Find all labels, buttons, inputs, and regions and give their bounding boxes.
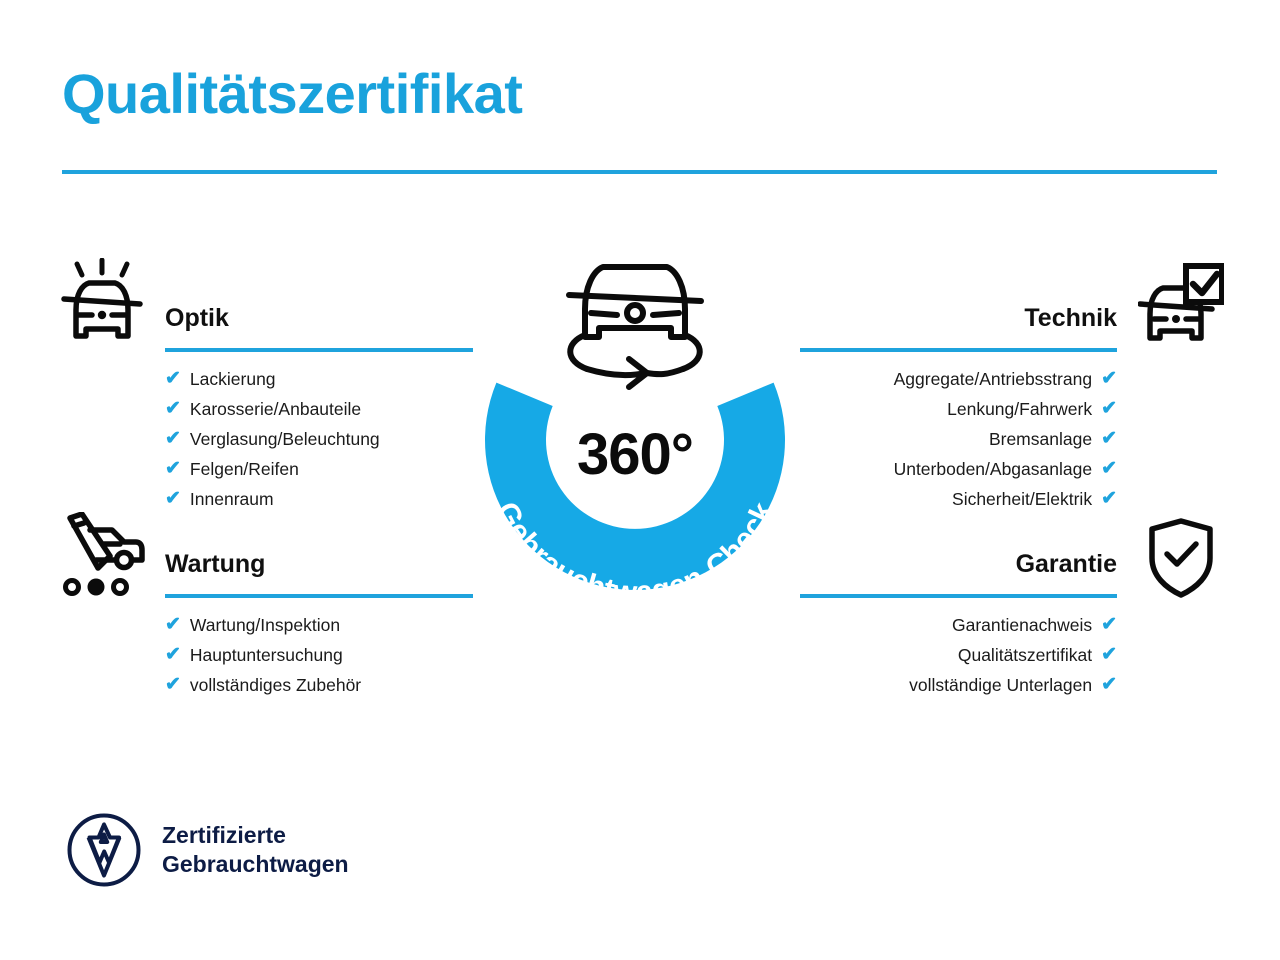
list-item: vollständige Unterlagen ✔ bbox=[800, 670, 1117, 700]
section-technik: Technik Aggregate/Antriebsstrang ✔ Lenku… bbox=[800, 300, 1117, 514]
footer-brand-lockup: Zertifizierte Gebrauchtwagen bbox=[66, 812, 349, 888]
check-icon: ✔ bbox=[165, 640, 181, 670]
section-title: Technik bbox=[800, 300, 1117, 336]
list-item: ✔ Felgen/Reifen bbox=[165, 454, 473, 484]
volkswagen-logo-icon bbox=[66, 812, 142, 888]
list-item: ✔ Karosserie/Anbauteile bbox=[165, 394, 473, 424]
list-item: Aggregate/Antriebsstrang ✔ bbox=[800, 364, 1117, 394]
check-icon: ✔ bbox=[1101, 610, 1117, 640]
section-header-optik: Optik bbox=[165, 300, 473, 352]
page-title: Qualitätszertifikat bbox=[62, 62, 522, 126]
check-icon: ✔ bbox=[165, 394, 181, 424]
list-item-label: Hauptuntersuchung bbox=[190, 640, 343, 670]
list-item: ✔ Hauptuntersuchung bbox=[165, 640, 473, 670]
check-icon: ✔ bbox=[1101, 424, 1117, 454]
list-item-label: Wartung/Inspektion bbox=[190, 610, 340, 640]
car-front-checkbox-icon bbox=[1138, 262, 1224, 348]
shield-check-icon bbox=[1148, 518, 1214, 598]
section-divider bbox=[800, 348, 1117, 352]
check-icon: ✔ bbox=[165, 364, 181, 394]
section-optik: Optik ✔ Lackierung ✔ Karosserie/Anbautei… bbox=[165, 300, 473, 514]
list-item: ✔ Verglasung/Beleuchtung bbox=[165, 424, 473, 454]
car-front-shine-icon bbox=[58, 258, 146, 348]
section-header-technik: Technik bbox=[800, 300, 1117, 352]
list-item-label: vollständige Unterlagen bbox=[909, 670, 1092, 700]
list-item: ✔ Innenraum bbox=[165, 484, 473, 514]
list-item-label: Karosserie/Anbauteile bbox=[190, 394, 361, 424]
list-item-label: Bremsanlage bbox=[989, 424, 1092, 454]
car-pencil-service-icon bbox=[60, 512, 148, 600]
quality-certificate-page: Qualitätszertifikat bbox=[0, 0, 1280, 960]
check-icon: ✔ bbox=[165, 670, 181, 700]
check-icon: ✔ bbox=[165, 484, 181, 514]
checklist-technik: Aggregate/Antriebsstrang ✔ Lenkung/Fahrw… bbox=[800, 364, 1117, 514]
section-header-garantie: Garantie bbox=[800, 546, 1117, 598]
check-icon: ✔ bbox=[1101, 484, 1117, 514]
list-item-label: Sicherheit/Elektrik bbox=[952, 484, 1092, 514]
section-header-wartung: Wartung bbox=[165, 546, 473, 598]
section-divider bbox=[165, 348, 473, 352]
section-title: Garantie bbox=[800, 546, 1117, 582]
check-icon: ✔ bbox=[1101, 670, 1117, 700]
check-icon: ✔ bbox=[1101, 364, 1117, 394]
list-item-label: Lenkung/Fahrwerk bbox=[947, 394, 1092, 424]
section-wartung: Wartung ✔ Wartung/Inspektion ✔ Hauptunte… bbox=[165, 546, 473, 700]
title-divider bbox=[62, 170, 1217, 174]
section-divider bbox=[800, 594, 1117, 598]
360-grad-gebrauchtwagen-check-badge: Gebrauchtwagen-Check bbox=[455, 245, 815, 640]
list-item-label: Verglasung/Beleuchtung bbox=[190, 424, 380, 454]
list-item-label: vollständiges Zubehör bbox=[190, 670, 361, 700]
list-item: Garantienachweis ✔ bbox=[800, 610, 1117, 640]
check-icon: ✔ bbox=[1101, 394, 1117, 424]
list-item: Bremsanlage ✔ bbox=[800, 424, 1117, 454]
section-title: Optik bbox=[165, 300, 473, 336]
list-item-label: Qualitätszertifikat bbox=[958, 640, 1092, 670]
list-item: ✔ Wartung/Inspektion bbox=[165, 610, 473, 640]
list-item: Sicherheit/Elektrik ✔ bbox=[800, 484, 1117, 514]
footer-brand-text: Zertifizierte Gebrauchtwagen bbox=[162, 821, 349, 880]
list-item: ✔ vollständiges Zubehör bbox=[165, 670, 473, 700]
check-icon: ✔ bbox=[165, 424, 181, 454]
check-icon: ✔ bbox=[165, 610, 181, 640]
check-icon: ✔ bbox=[1101, 454, 1117, 484]
list-item: ✔ Lackierung bbox=[165, 364, 473, 394]
list-item: Qualitätszertifikat ✔ bbox=[800, 640, 1117, 670]
section-divider bbox=[165, 594, 473, 598]
list-item-label: Innenraum bbox=[190, 484, 274, 514]
check-icon: ✔ bbox=[1101, 640, 1117, 670]
list-item-label: Garantienachweis bbox=[952, 610, 1092, 640]
checklist-optik: ✔ Lackierung ✔ Karosserie/Anbauteile ✔ V… bbox=[165, 364, 473, 514]
list-item-label: Felgen/Reifen bbox=[190, 454, 299, 484]
checklist-wartung: ✔ Wartung/Inspektion ✔ Hauptuntersuchung… bbox=[165, 610, 473, 700]
section-title: Wartung bbox=[165, 546, 473, 582]
list-item: Unterboden/Abgasanlage ✔ bbox=[800, 454, 1117, 484]
check-icon: ✔ bbox=[165, 454, 181, 484]
list-item-label: Aggregate/Antriebsstrang bbox=[894, 364, 1092, 394]
section-garantie: Garantie Garantienachweis ✔ Qualitätszer… bbox=[800, 546, 1117, 700]
list-item-label: Unterboden/Abgasanlage bbox=[894, 454, 1093, 484]
checklist-garantie: Garantienachweis ✔ Qualitätszertifikat ✔… bbox=[800, 610, 1117, 700]
list-item-label: Lackierung bbox=[190, 364, 276, 394]
list-item: Lenkung/Fahrwerk ✔ bbox=[800, 394, 1117, 424]
